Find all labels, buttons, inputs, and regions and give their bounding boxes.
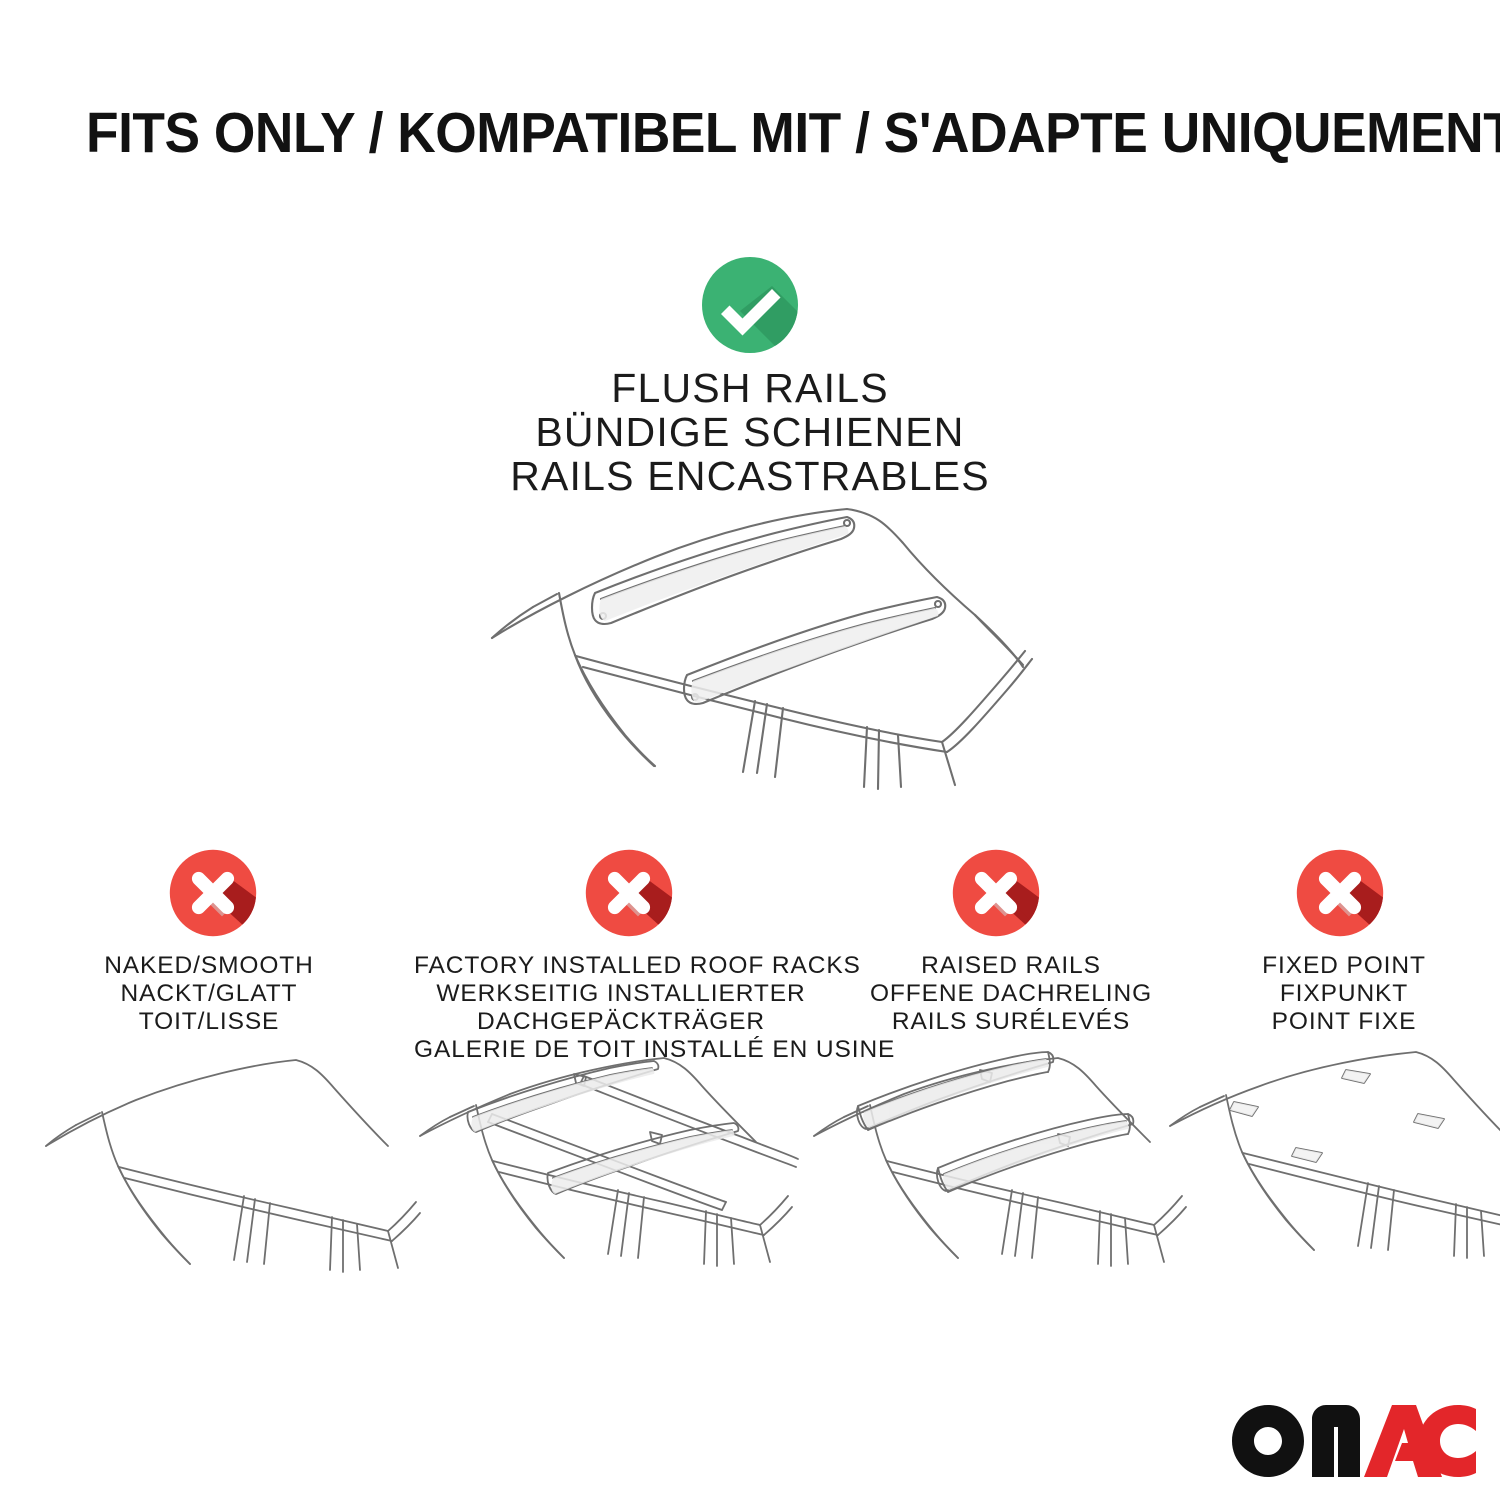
label-line-en: NAKED/SMOOTH — [10, 952, 408, 980]
car-roof-naked-illustration — [44, 1048, 424, 1288]
incompatible-labels: FIXED POINT FIXPUNKT POINT FIXE — [1188, 952, 1500, 1036]
incompatible-column-fixed-point: FIXED POINT FIXPUNKT POINT FIXE — [1188, 848, 1500, 1036]
page-title: FITS ONLY / KOMPATIBEL MIT / S'ADAPTE UN… — [86, 104, 1339, 164]
incompatible-labels: RAISED RAILS OFFENE DACHRELING RAILS SUR… — [828, 952, 1188, 1036]
flush-rails-label-en: FLUSH RAILS — [0, 367, 1500, 411]
incompatible-column-naked-smooth: NAKED/SMOOTH NACKT/GLATT TOIT/LISSE — [0, 848, 408, 1036]
label-line-de: FIXPUNKT — [1188, 980, 1500, 1008]
omac-logo — [1232, 1405, 1476, 1477]
label-line-en: FIXED POINT — [1188, 952, 1500, 980]
compatible-section: FLUSH RAILS BÜNDIGE SCHIENEN RAILS ENCAS… — [0, 255, 1500, 499]
compatible-labels: FLUSH RAILS BÜNDIGE SCHIENEN RAILS ENCAS… — [0, 367, 1500, 499]
flush-rails-label-de: BÜNDIGE SCHIENEN — [0, 411, 1500, 455]
incompatible-labels: NAKED/SMOOTH NACKT/GLATT TOIT/LISSE — [0, 952, 408, 1036]
label-line-fr: RAILS SURÉLEVÉS — [834, 1008, 1188, 1036]
car-roof-with-raised-rails-illustration — [812, 1048, 1192, 1288]
logo-letter-o — [1232, 1405, 1304, 1477]
car-roof-fixed-point-illustration — [1168, 1048, 1500, 1288]
incompatible-section: NAKED/SMOOTH NACKT/GLATT TOIT/LISSE — [0, 848, 1500, 1064]
label-line-en: FACTORY INSTALLED ROOF RACKS — [414, 952, 828, 980]
label-line-de-1: WERKSEITIG INSTALLIERTER — [414, 980, 828, 1008]
car-roof-with-flush-rails-illustration — [455, 495, 1055, 795]
red-x-circle-icon — [168, 848, 258, 938]
logo-letter-m — [1312, 1405, 1360, 1477]
label-line-de: OFFENE DACHRELING — [834, 980, 1188, 1008]
label-line-de: NACKT/GLATT — [10, 980, 408, 1008]
label-line-de-2: DACHGEPÄCKTRÄGER — [414, 1008, 828, 1036]
label-line-fr: TOIT/LISSE — [10, 1008, 408, 1036]
red-x-circle-icon — [1295, 848, 1385, 938]
label-line-fr: POINT FIXE — [1188, 1008, 1500, 1036]
red-x-circle-icon — [584, 848, 674, 938]
incompatible-column-raised-rails: RAISED RAILS OFFENE DACHRELING RAILS SUR… — [828, 848, 1188, 1036]
incompatible-labels: FACTORY INSTALLED ROOF RACKS WERKSEITIG … — [408, 952, 828, 1064]
green-check-circle-icon — [700, 255, 800, 355]
incompatible-illustrations — [0, 1048, 1500, 1288]
car-roof-with-factory-roof-racks-illustration — [418, 1048, 798, 1288]
red-x-circle-icon — [951, 848, 1041, 938]
flush-rails-label-fr: RAILS ENCASTRABLES — [0, 455, 1500, 499]
incompatible-column-factory-roof-racks: FACTORY INSTALLED ROOF RACKS WERKSEITIG … — [408, 848, 828, 1064]
label-line-en: RAISED RAILS — [834, 952, 1188, 980]
